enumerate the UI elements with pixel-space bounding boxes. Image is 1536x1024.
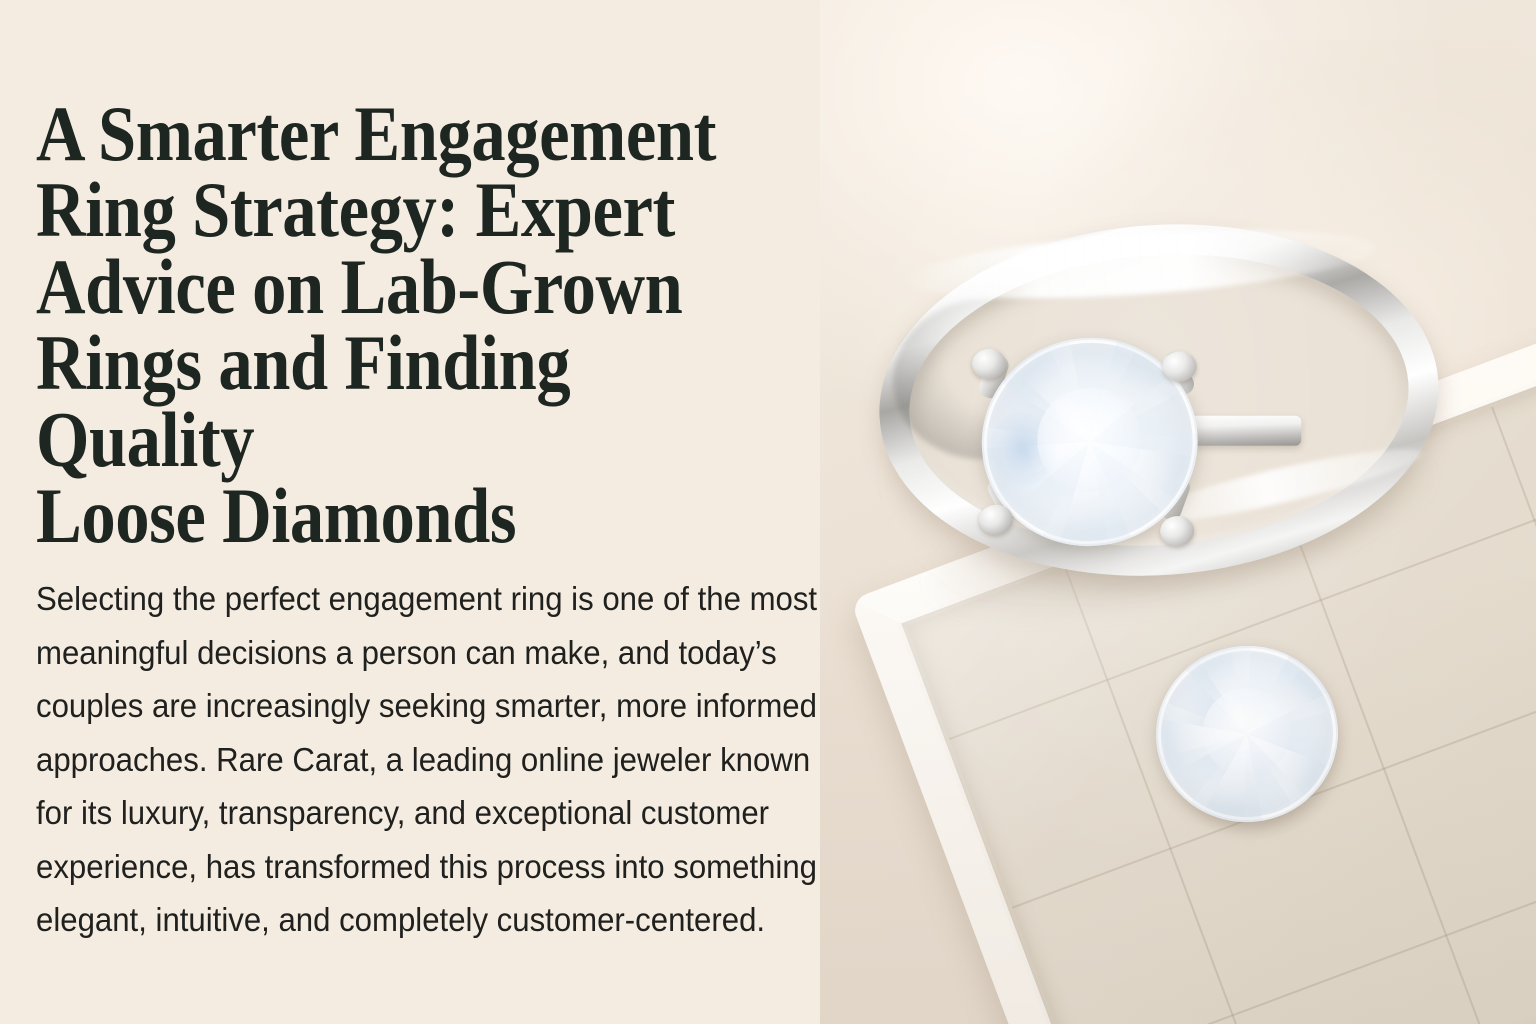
article-text-column: A Smarter Engagement Ring Strategy: Expe… <box>36 0 896 1024</box>
page-title: A Smarter Engagement Ring Strategy: Expe… <box>36 96 793 555</box>
article-intro-paragraph: Selecting the perfect engagement ring is… <box>36 573 854 948</box>
article-hero: A Smarter Engagement Ring Strategy: Expe… <box>0 0 1536 1024</box>
photo-vignette <box>820 0 1536 1024</box>
hero-photo <box>820 0 1536 1024</box>
